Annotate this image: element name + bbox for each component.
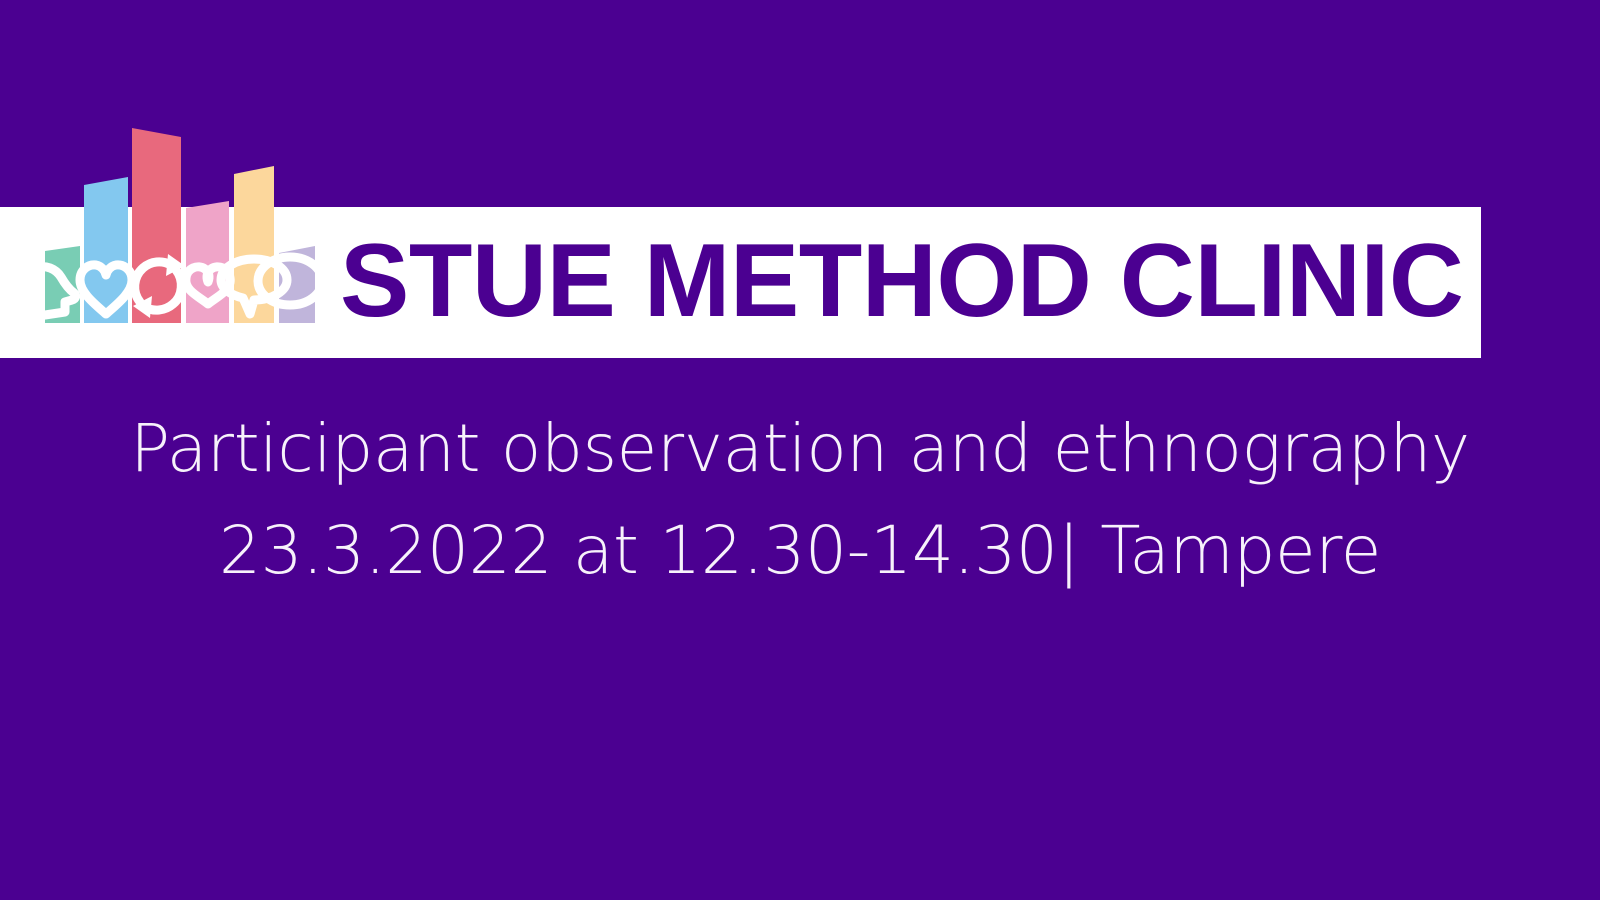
- subtitle-line-topic: Participant observation and ethnography: [0, 398, 1600, 500]
- poster-canvas: STUE METHOD CLINIC: [0, 0, 1600, 900]
- headline-container: STUE METHOD CLINIC: [340, 207, 1463, 358]
- page-title: STUE METHOD CLINIC: [340, 229, 1463, 333]
- stue-logo: [40, 118, 322, 328]
- subtitle-block: Participant observation and ethnography …: [0, 398, 1600, 603]
- subtitle-line-datetime-location: 23.3.2022 at 12.30-14.30| Tampere: [0, 500, 1600, 602]
